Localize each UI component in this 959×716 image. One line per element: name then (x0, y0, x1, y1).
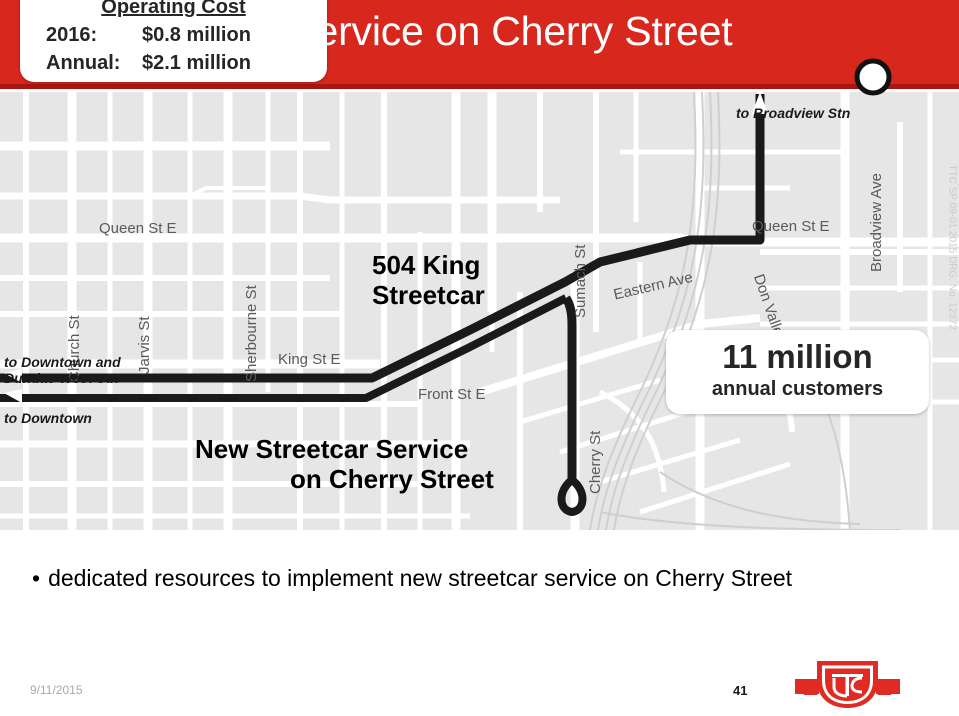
ridership-caption: annual customers (666, 378, 929, 401)
ridership-callout: 11 million annual customers (666, 330, 929, 414)
ridership-value: 11 million (666, 338, 929, 376)
broadview-station-marker (850, 54, 896, 100)
operating-cost-value-annual: $2.1 million (142, 52, 251, 75)
street-label-jarvis-st: Jarvis St (136, 316, 153, 374)
route-label-cherry-line2: on Cherry Street (290, 464, 494, 494)
operating-cost-label-2016: 2016: (46, 24, 97, 47)
direction-note-broadview-stn: to Broadview Stn (736, 105, 850, 121)
bullet-marker: • (32, 565, 40, 591)
direction-note-dundas-west-line2: Dundas West Stn (4, 370, 119, 386)
route-label-504-king-line1: 504 King (372, 250, 480, 280)
bullet-text: dedicated resources to implement new str… (48, 565, 792, 591)
direction-note-dundas-west-line1: to Downtown and (4, 354, 121, 370)
street-label-queen-st-e-east: Queen St E (752, 218, 830, 235)
street-label-king-st-e: King St E (278, 351, 341, 368)
operating-cost-callout: Operating Cost 2016: $0.8 million Annual… (20, 0, 327, 82)
route-label-cherry-line1: New Streetcar Service (195, 434, 468, 464)
street-label-broadview-ave: Broadview Ave (868, 173, 885, 272)
map-figure: .rd { stroke:#FFFFFF; fill:none; stroke-… (0, 92, 959, 530)
street-label-queen-st-e-west: Queen St E (99, 220, 177, 237)
page-number: 41 (733, 683, 747, 698)
street-label-sherbourne-st: Sherbourne St (243, 285, 260, 382)
drawing-credit: TTC SP 09-01 2015 DRG. No. 12372 (946, 165, 957, 330)
title-banner-shadow (0, 84, 959, 89)
street-label-sumach-st: Sumach St (572, 245, 589, 318)
route-label-504-king-line2: Streetcar (372, 280, 485, 310)
operating-cost-value-2016: $0.8 million (142, 24, 251, 47)
ttc-logo (795, 658, 900, 710)
direction-note-downtown: to Downtown (4, 410, 92, 426)
bullet-item: •dedicated resources to implement new st… (32, 565, 932, 592)
footer-date: 9/11/2015 (30, 683, 83, 697)
operating-cost-title: Operating Cost (20, 0, 327, 19)
street-label-front-st-e: Front St E (418, 386, 486, 403)
operating-cost-label-annual: Annual: (46, 52, 120, 75)
street-label-cherry-st: Cherry St (587, 431, 604, 494)
